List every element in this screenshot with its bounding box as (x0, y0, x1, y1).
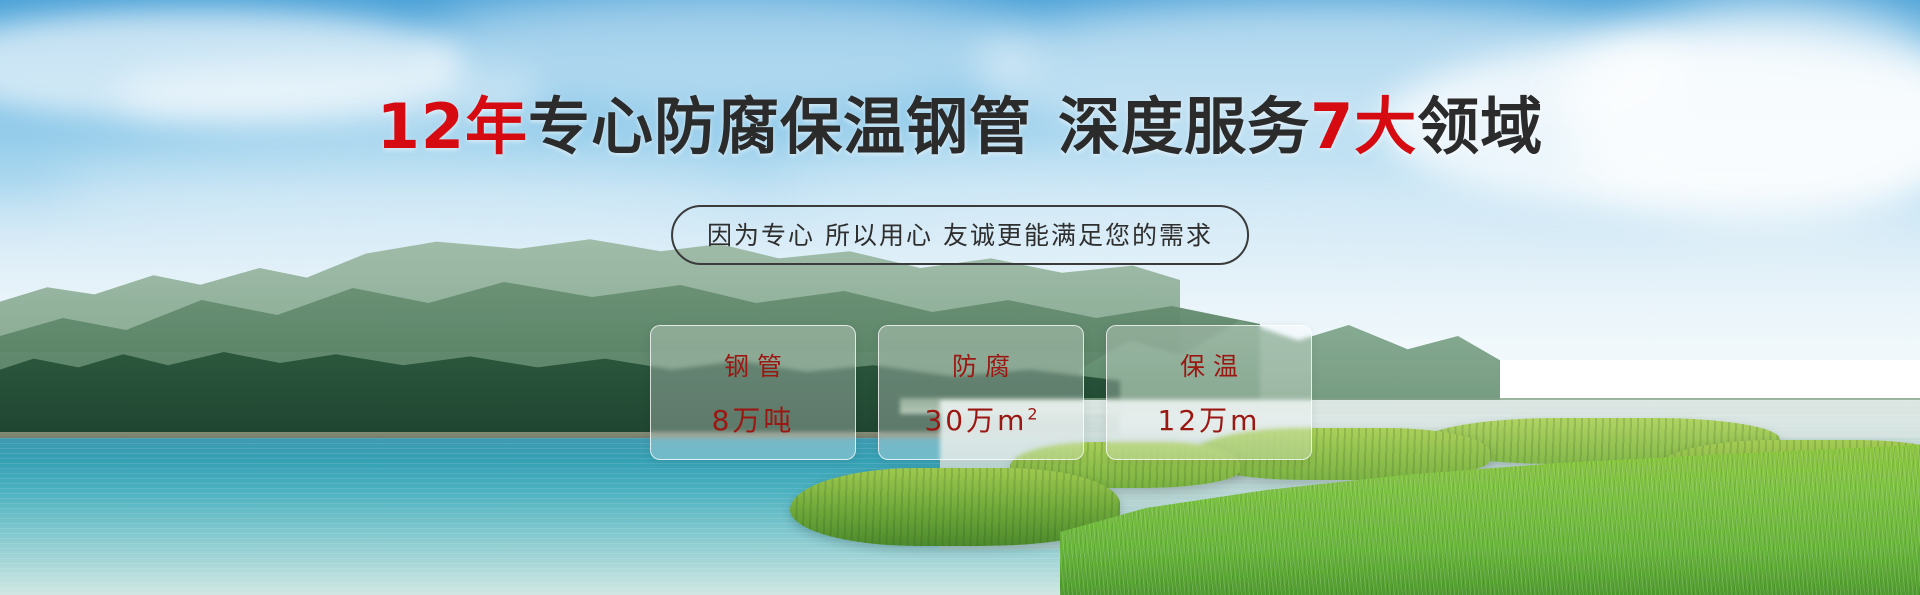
headline-fields-number: 7 (1310, 90, 1354, 163)
stat-card-value: 30万m2 (924, 399, 1037, 439)
stat-card-group: 钢管 8万吨 防腐 30万m2 保温 12万m (650, 325, 1312, 460)
stat-card-insulation[interactable]: 保温 12万m (1106, 325, 1312, 460)
stat-value-text: 30万m (924, 404, 1027, 437)
headline-years-number: 12 (377, 90, 465, 163)
headline-service-text: 深度服务 (1058, 90, 1310, 163)
stat-card-value: 8万吨 (712, 399, 795, 439)
stat-card-steel-pipe[interactable]: 钢管 8万吨 (650, 325, 856, 460)
stat-card-title: 钢管 (716, 347, 790, 383)
hero-banner: 12年专心防腐保温钢管深度服务7大领域 因为专心 所以用心 友诚更能满足您的需求… (0, 0, 1920, 595)
stat-card-title: 保温 (1172, 347, 1246, 383)
stat-value-text: 8万吨 (712, 404, 795, 437)
stat-card-title: 防腐 (944, 347, 1018, 383)
stat-value-superscript: 2 (1027, 404, 1037, 423)
headline-years-unit: 年 (465, 90, 528, 163)
headline-fields-measure: 大 (1354, 90, 1417, 163)
headline-main-text: 专心防腐保温钢管 (528, 90, 1032, 163)
stat-card-anticorrosion[interactable]: 防腐 30万m2 (878, 325, 1084, 460)
banner-headline: 12年专心防腐保温钢管深度服务7大领域 (0, 96, 1920, 158)
stat-card-value: 12万m (1158, 399, 1261, 439)
banner-subtitle-pill: 因为专心 所以用心 友诚更能满足您的需求 (671, 205, 1249, 265)
headline-fields-text: 领域 (1417, 90, 1543, 163)
stat-value-text: 12万m (1158, 404, 1261, 437)
